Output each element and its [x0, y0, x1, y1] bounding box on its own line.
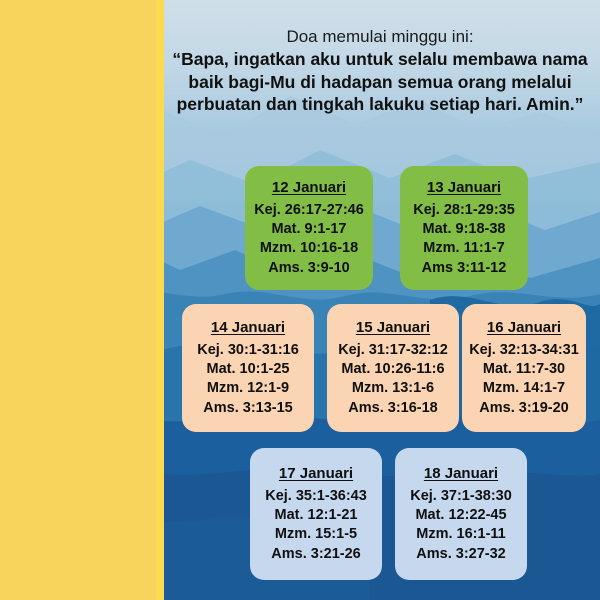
card-reading-1: Kej. 28:1-29:35 — [413, 201, 515, 220]
card-reading-4: Ams 3:11-12 — [422, 259, 507, 278]
card-reading-2: Mat. 10:26-11:6 — [341, 360, 444, 379]
card-reading-4: Ams. 3:19-20 — [479, 399, 568, 418]
reading-card-14-januari[interactable]: 14 Januari Kej. 30:1-31:16 Mat. 10:1-25 … — [182, 304, 314, 432]
card-reading-3: Mzm. 12:1-9 — [207, 379, 289, 398]
card-date: 18 Januari — [424, 464, 498, 484]
card-reading-4: Ams. 3:9-10 — [268, 259, 349, 278]
card-reading-4: Ams. 3:16-18 — [348, 399, 437, 418]
card-reading-1: Kej. 37:1-38:30 — [410, 487, 512, 506]
card-reading-1: Kej. 32:13-34:31 — [469, 341, 579, 360]
reading-card-13-januari[interactable]: 13 Januari Kej. 28:1-29:35 Mat. 9:18-38 … — [400, 166, 528, 290]
card-reading-1: Kej. 35:1-36:43 — [265, 487, 367, 506]
card-date: 15 Januari — [356, 318, 430, 338]
card-date: 12 Januari — [272, 178, 346, 198]
card-reading-2: Mat. 9:1-17 — [272, 220, 347, 239]
header-block: Doa memulai minggu ini: “Bapa, ingatkan … — [168, 26, 592, 115]
card-reading-4: Ams. 3:27-32 — [416, 545, 505, 564]
reading-card-17-januari[interactable]: 17 Januari Kej. 35:1-36:43 Mat. 12:1-21 … — [250, 448, 382, 580]
card-reading-2: Mat. 12:1-21 — [274, 506, 357, 525]
card-reading-3: Mzm. 11:1-7 — [423, 239, 504, 258]
card-reading-4: Ams. 3:21-26 — [271, 545, 360, 564]
card-reading-1: Kej. 31:17-32:12 — [338, 341, 448, 360]
reading-card-15-januari[interactable]: 15 Januari Kej. 31:17-32:12 Mat. 10:26-1… — [327, 304, 459, 432]
card-reading-1: Kej. 30:1-31:16 — [197, 341, 299, 360]
poster-root: HEBAT Hari Energetik Baca Alkitab Teratu… — [0, 0, 600, 600]
card-reading-2: Mat. 10:1-25 — [206, 360, 289, 379]
card-date: 13 Januari — [427, 178, 501, 198]
prayer-text: “Bapa, ingatkan aku untuk selalu membawa… — [168, 48, 592, 115]
card-reading-3: Mzm. 14:1-7 — [483, 379, 565, 398]
card-reading-2: Mat. 9:18-38 — [422, 220, 505, 239]
card-date: 14 Januari — [211, 318, 285, 338]
card-reading-3: Mzm. 13:1-6 — [352, 379, 434, 398]
card-reading-2: Mat. 12:22-45 — [415, 506, 506, 525]
card-reading-2: Mat. 11:7-30 — [483, 360, 565, 379]
card-date: 17 Januari — [279, 464, 353, 484]
card-reading-1: Kej. 26:17-27:46 — [254, 201, 364, 220]
sidebar-accent-stripe — [156, 0, 164, 600]
reading-card-16-januari[interactable]: 16 Januari Kej. 32:13-34:31 Mat. 11:7-30… — [462, 304, 586, 432]
sidebar-panel — [0, 0, 156, 600]
card-reading-3: Mzm. 16:1-11 — [416, 525, 505, 544]
prayer-lead-in: Doa memulai minggu ini: — [168, 26, 592, 47]
reading-card-12-januari[interactable]: 12 Januari Kej. 26:17-27:46 Mat. 9:1-17 … — [245, 166, 373, 290]
card-date: 16 Januari — [487, 318, 561, 338]
card-reading-3: Mzm. 15:1-5 — [275, 525, 357, 544]
card-reading-3: Mzm. 10:16-18 — [260, 239, 358, 258]
reading-card-18-januari[interactable]: 18 Januari Kej. 37:1-38:30 Mat. 12:22-45… — [395, 448, 527, 580]
card-reading-4: Ams. 3:13-15 — [203, 399, 292, 418]
